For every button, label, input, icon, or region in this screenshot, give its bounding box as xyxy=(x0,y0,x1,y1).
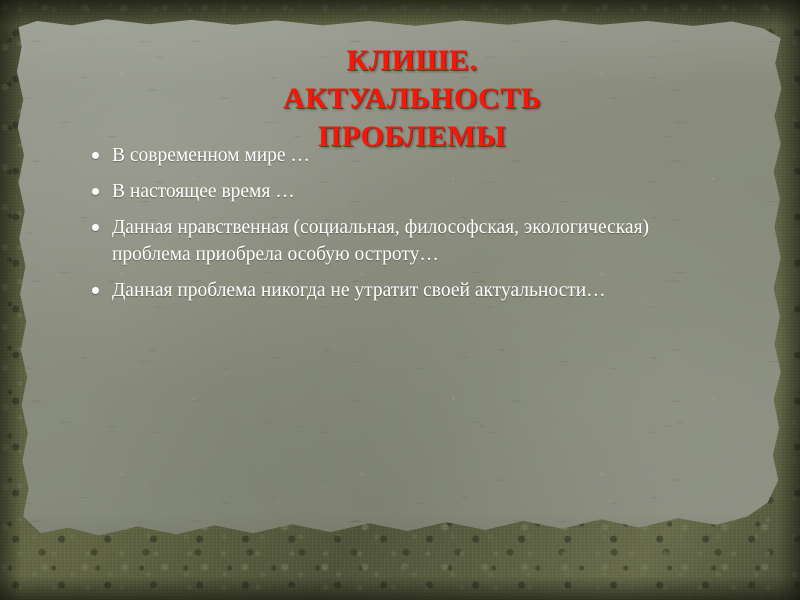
bullet-list: В современном мире … В настоящее время …… xyxy=(88,142,688,313)
list-item: Данная нравственная (социальная, философ… xyxy=(88,214,688,268)
list-item: В настоящее время … xyxy=(88,178,688,205)
list-item-text: В современном мире … xyxy=(112,142,688,169)
list-item-text: В настоящее время … xyxy=(112,178,688,205)
presentation-slide: КЛИШЕ. АКТУАЛЬНОСТЬ ПРОБЛЕМЫ В современн… xyxy=(0,0,800,600)
list-item-text: Данная проблема никогда не утратит своей… xyxy=(112,277,688,304)
bullet-point-icon xyxy=(92,188,99,195)
slide-title-line-2: АКТУАЛЬНОСТЬ xyxy=(232,80,592,118)
bullet-point-icon xyxy=(92,224,99,231)
bullet-point-icon xyxy=(92,152,99,159)
slide-content: КЛИШЕ. АКТУАЛЬНОСТЬ ПРОБЛЕМЫ В современн… xyxy=(0,0,800,600)
slide-title: КЛИШЕ. АКТУАЛЬНОСТЬ ПРОБЛЕМЫ xyxy=(232,42,592,156)
list-item-text: Данная нравственная (социальная, философ… xyxy=(112,214,688,268)
list-item: Данная проблема никогда не утратит своей… xyxy=(88,277,688,304)
slide-title-line-1: КЛИШЕ. xyxy=(232,42,592,80)
bullet-point-icon xyxy=(92,287,99,294)
list-item: В современном мире … xyxy=(88,142,688,169)
